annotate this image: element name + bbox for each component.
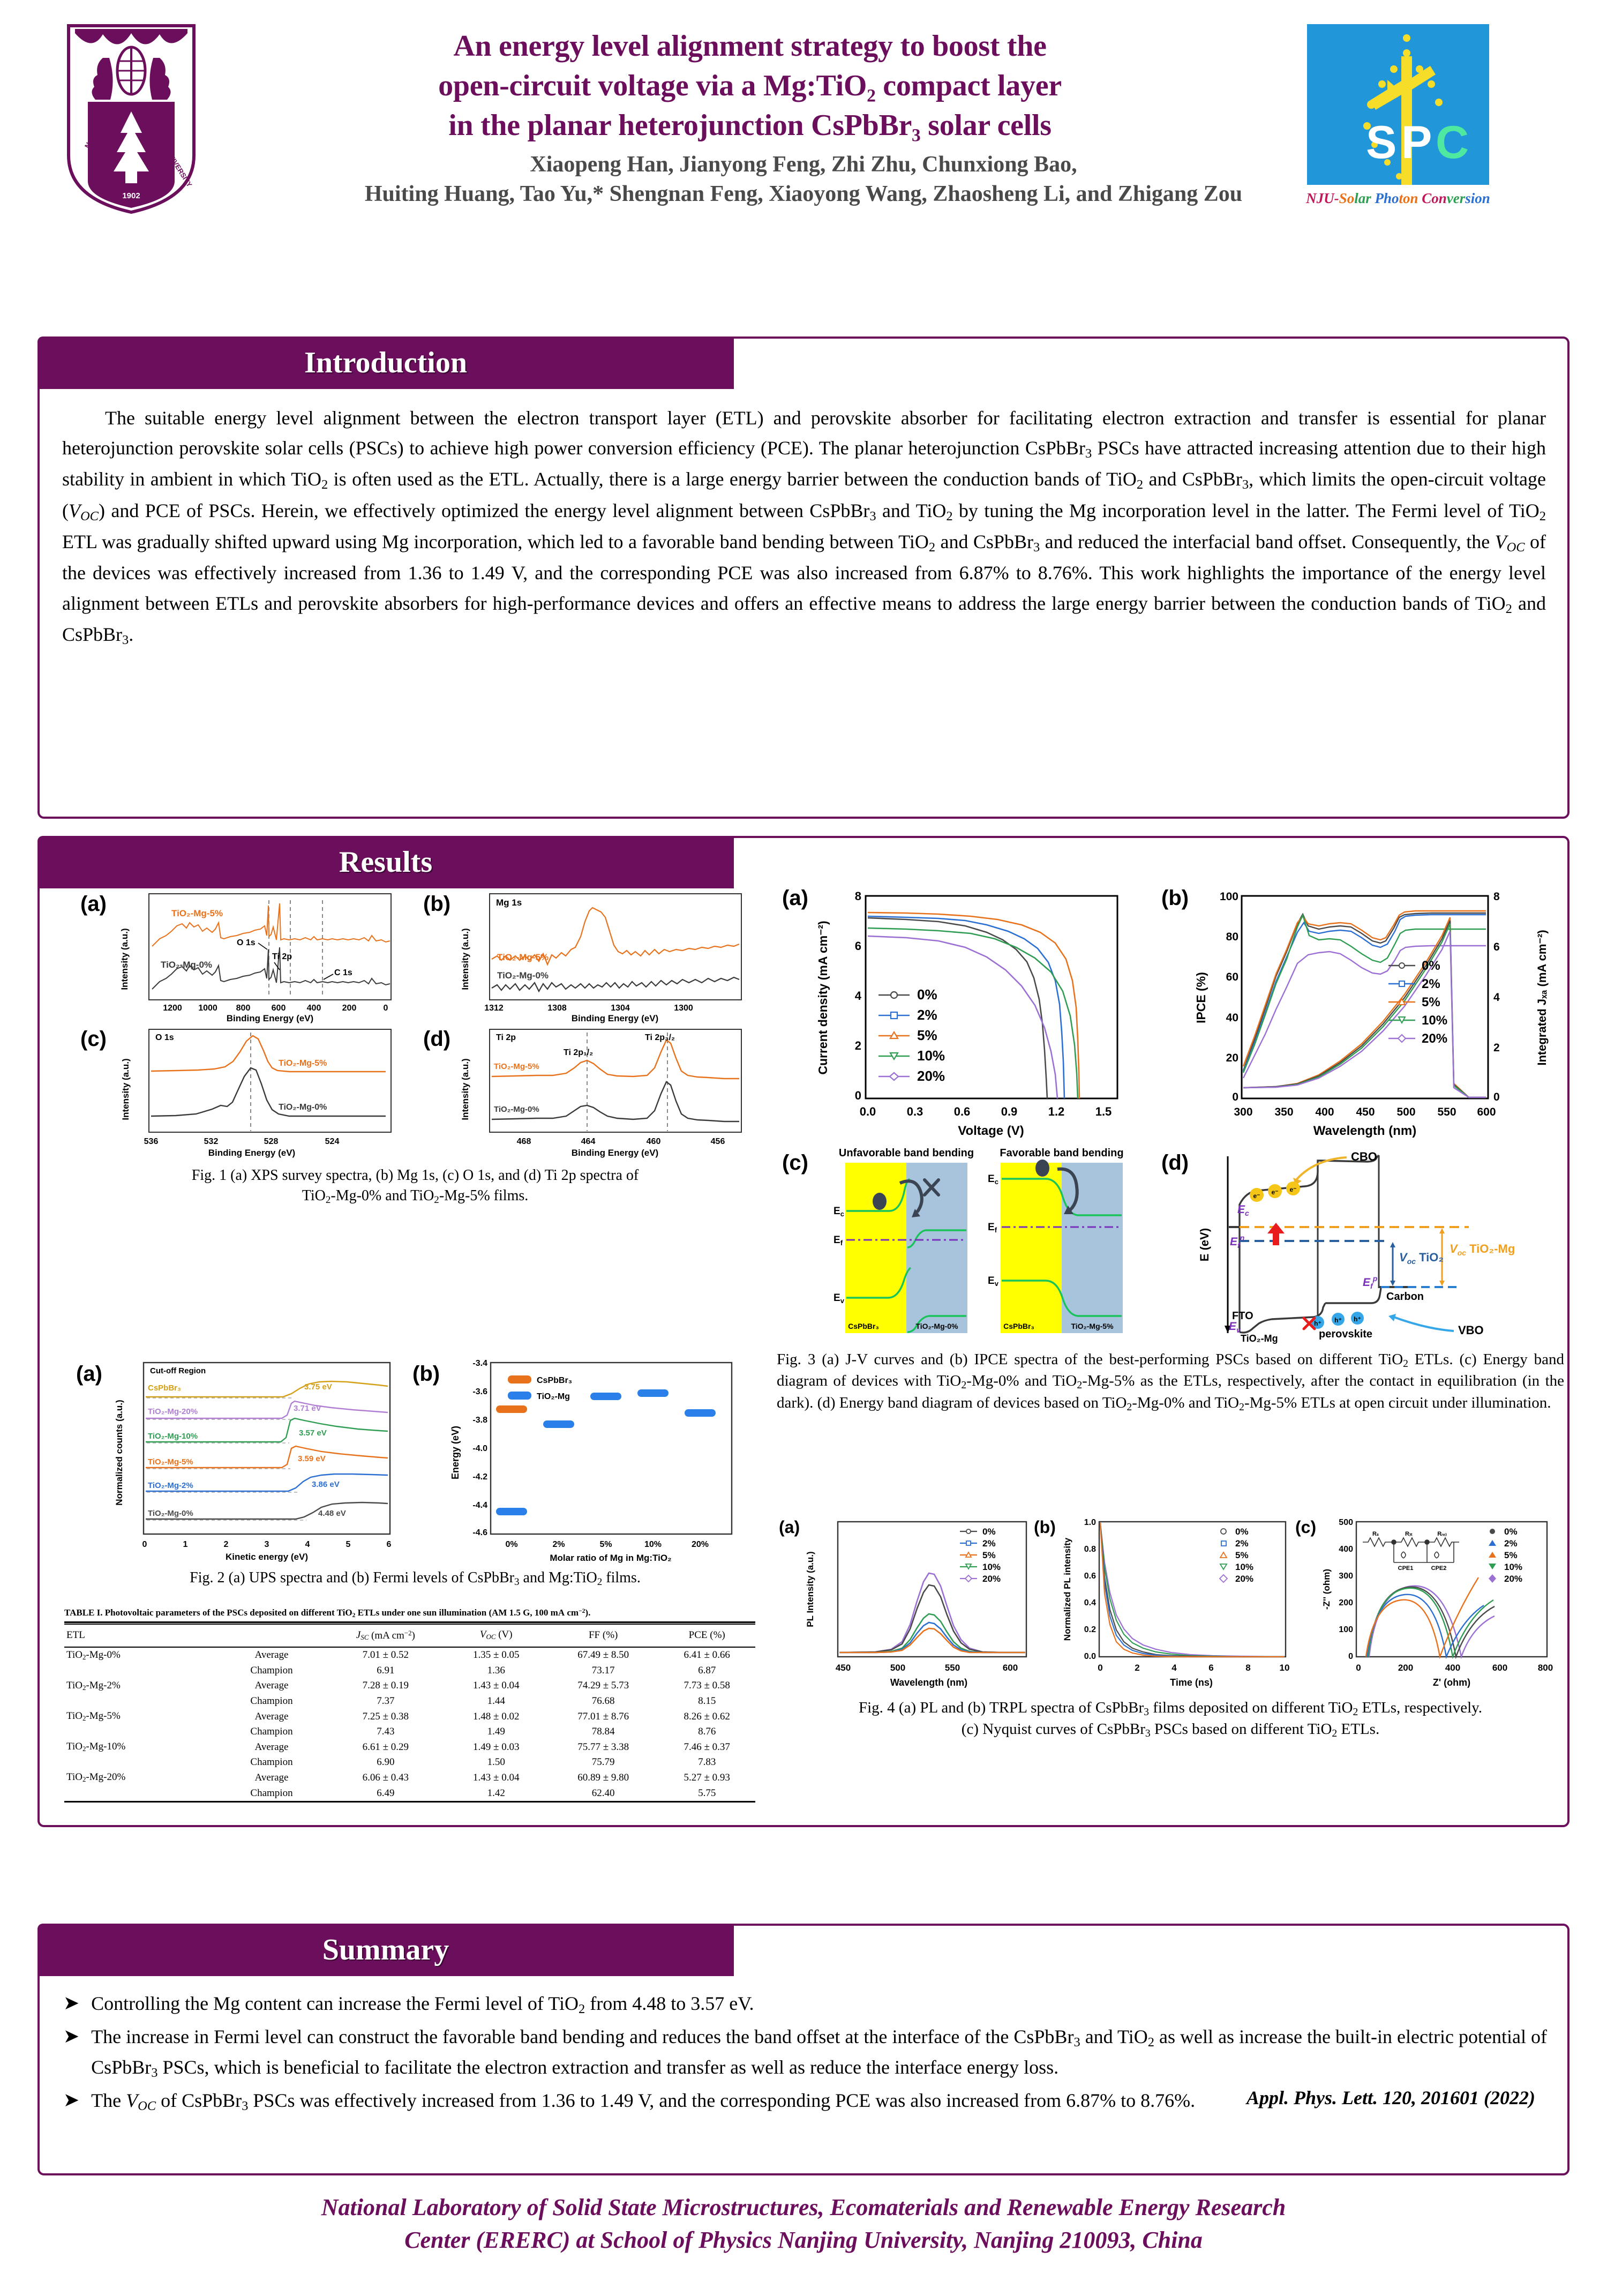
title-line-1: An energy level alignment strategy to bo…: [204, 27, 1296, 66]
fig3b-ytick2: 6: [1493, 941, 1500, 953]
fig2b-point-20pct: [685, 1409, 716, 1417]
fig4c-ytick: 400: [1339, 1545, 1353, 1554]
fig3c-band-diagram: Unfavorable band bending Favorable band …: [810, 1146, 1153, 1344]
fig3c-level-ec-r: Ec: [988, 1173, 998, 1186]
fig3b-xtick: 600: [1477, 1106, 1496, 1118]
th-etl: ETL: [64, 1624, 216, 1647]
cell-pce: 6.41 ± 0.66: [658, 1647, 755, 1663]
fig1a-xtick: 1000: [198, 1004, 217, 1013]
fig3-panel-b-label: (b): [1161, 886, 1189, 910]
fig3b-ytick: 60: [1226, 971, 1238, 983]
cell-kind: Average: [216, 1647, 327, 1663]
fig2b-legend-cspbbr3: CsPbBr₃: [537, 1376, 572, 1385]
fig2b-ytick: -3.8: [472, 1416, 487, 1425]
table-header-row: ETL JSC (mA cm−2) VOC (V) FF (%) PCE (%): [64, 1624, 755, 1647]
fig3a-ytick: 4: [855, 989, 862, 1003]
cell-etl: [64, 1694, 216, 1709]
fig1a-ylabel: Intensity (a.u.): [119, 928, 130, 990]
cell-kind: Champion: [216, 1663, 327, 1678]
fig4b-ytick: 0.8: [1084, 1545, 1096, 1554]
fig4c-ylabel: -Z'' (ohm): [1321, 1569, 1332, 1610]
summary-panel: Summary ➤ Controlling the Mg content can…: [37, 1924, 1570, 2175]
fig1b-xtick: 1300: [674, 1004, 693, 1013]
fig3b-xtick: 400: [1315, 1106, 1334, 1118]
fig3b-ipce-chart: IPCE (%) Integrated Jₓₐ (mA cm⁻²) 10080 …: [1190, 884, 1560, 1141]
table-row: TiO2-Mg-0%Average7.01 ± 0.521.35 ± 0.056…: [64, 1647, 755, 1663]
fig4c-legend-item: 0%: [1504, 1527, 1518, 1537]
cell-kind: Average: [216, 1709, 327, 1724]
fig2b-point-2pct: [543, 1420, 574, 1428]
fig4b-xtick: 4: [1172, 1663, 1177, 1673]
cell-ff: 60.89 ± 9.80: [548, 1770, 658, 1785]
fig1c-series-label-0pct: TiO₂-Mg-0%: [279, 1103, 327, 1112]
cell-voc: 1.43 ± 0.04: [444, 1770, 548, 1785]
fig1d-series-label-0pct: TiO₂-Mg-0%: [494, 1105, 539, 1114]
cell-ff: 62.40: [548, 1786, 658, 1802]
fig1a-xtick: 200: [342, 1004, 357, 1013]
fig3b-xlabel: Wavelength (nm): [1313, 1124, 1416, 1138]
fig2a-trace-value: 3.75 eV: [304, 1382, 332, 1392]
cell-etl: [64, 1755, 216, 1770]
fig3d-label-ec: Ec: [1237, 1203, 1249, 1217]
fig1c-o1s-chart: O 1s Intensity (a.u.) TiO₂-Mg-5% TiO₂-Mg…: [118, 1025, 407, 1159]
summary-header: Summary: [37, 1924, 734, 1976]
fig1a-annotation-o1s: O 1s: [237, 938, 256, 947]
fig1d-annotation-ti2p32: Ti 2p₃/₂: [645, 1033, 675, 1042]
fig3b-xtick: 550: [1437, 1106, 1456, 1118]
fig3b-xtick: 350: [1274, 1106, 1293, 1118]
fig2a-ylabel: Normalized counts (a.u.): [114, 1400, 124, 1505]
fig2a-xtick: 3: [265, 1540, 269, 1549]
results-heading: Results: [339, 845, 432, 879]
poster-footer: National Laboratory of Solid State Micro…: [0, 2192, 1607, 2256]
cell-voc: 1.49 ± 0.03: [444, 1739, 548, 1755]
fig3a-xtick: 0.0: [860, 1105, 876, 1118]
cell-jsc: 6.49: [327, 1786, 444, 1802]
fig2a-trace-label: TiO₂-Mg-10%: [148, 1432, 198, 1441]
cell-jsc: 7.43: [327, 1724, 444, 1739]
fig3c-left-mat1: CsPbBr₃: [848, 1322, 879, 1330]
cell-pce: 5.27 ± 0.93: [658, 1770, 755, 1785]
fig3b-ytick2: 8: [1493, 891, 1500, 903]
fig4a-legend-item: 5%: [982, 1550, 996, 1560]
author-line-1: Xiaopeng Han, Jianyong Feng, Zhi Zhu, Ch…: [86, 150, 1521, 180]
poster-title: An energy level alignment strategy to bo…: [204, 27, 1296, 146]
fig4a-xlabel: Wavelength (nm): [890, 1677, 967, 1688]
fig1a-series-label-5pct: TiO₂-Mg-5%: [171, 908, 223, 918]
fig4c-ytick: 100: [1339, 1625, 1353, 1634]
fig1c-xtick: 528: [264, 1137, 279, 1146]
fig4c-inset-label: R₎ₜ: [1405, 1531, 1413, 1537]
cell-ff: 75.79: [548, 1755, 658, 1770]
fig3c-level-ev-r: Ev: [988, 1275, 999, 1288]
cell-ff: 74.29 ± 5.73: [548, 1678, 658, 1694]
cell-jsc: 6.91: [327, 1663, 444, 1678]
fig3d-label-efn: Efn: [1230, 1233, 1244, 1250]
fig3a-legend-item: 20%: [917, 1068, 945, 1084]
fig3d-label-tio2mg: TiO₂-Mg: [1241, 1333, 1278, 1344]
fig3a-xtick: 0.3: [907, 1105, 923, 1118]
fig4b-trpl-chart: Normalized PL intensity 1.00.8 0.60.4 0.…: [1057, 1514, 1298, 1691]
summary-bullet-1: ➤ Controlling the Mg content can increas…: [63, 1989, 1547, 2019]
fig2b-point-cspbbr3: [496, 1405, 527, 1413]
fig3d-label-efp: Efp: [1363, 1274, 1378, 1290]
fig4b-legend-item: 0%: [1235, 1527, 1249, 1537]
fig3d-band-diagram: E (eV) CBO e⁻ e⁻ e⁻ h⁺: [1190, 1146, 1560, 1344]
fig4b-xlabel: Time (ns): [1170, 1677, 1213, 1688]
fig2b-ytick: -4.4: [472, 1501, 487, 1510]
fig3d-label-fto: FTO: [1232, 1310, 1253, 1322]
fig3a-ylabel: Current density (mA cm⁻²): [816, 921, 830, 1074]
cell-pce: 6.87: [658, 1663, 755, 1678]
cell-kind: Champion: [216, 1786, 327, 1802]
cell-kind: Champion: [216, 1694, 327, 1709]
fig3a-xtick: 0.9: [1001, 1105, 1018, 1118]
cell-jsc: 6.06 ± 0.43: [327, 1770, 444, 1785]
th-kind: [216, 1624, 327, 1647]
fig1b-xtick: 1312: [484, 1004, 504, 1013]
fig4c-inset-label: Rₛ: [1372, 1531, 1379, 1537]
cell-ff: 75.77 ± 3.38: [548, 1739, 658, 1755]
cell-pce: 8.76: [658, 1724, 755, 1739]
fig1-panel-c-label: (c): [80, 1027, 107, 1051]
fig4c-inset-label: CPE2: [1431, 1565, 1447, 1572]
fig4a-xtick: 500: [890, 1663, 905, 1673]
svg-text:e⁻: e⁻: [1253, 1192, 1260, 1200]
fig1b-xlabel: Binding Energy (eV): [572, 1013, 658, 1023]
fig4b-xtick: 0: [1098, 1663, 1102, 1673]
fig4a-legend-item: 10%: [982, 1562, 1001, 1572]
fig3c-level-ef: Ef: [833, 1235, 843, 1247]
fig2b-ytick: -3.6: [472, 1387, 487, 1396]
fig1c-title: O 1s: [155, 1033, 174, 1042]
fig4c-xlabel: Z' (ohm): [1433, 1677, 1470, 1688]
fig3c-right-title: Favorable band bending: [1000, 1147, 1123, 1159]
fig2a-trace-label: TiO₂-Mg-5%: [148, 1457, 193, 1467]
fig4b-xtick: 10: [1280, 1663, 1290, 1673]
fig4b-xtick: 6: [1208, 1663, 1213, 1673]
fig4c-inset-label: Rᵣₑ₎: [1437, 1531, 1447, 1537]
fig4a-legend-item: 0%: [982, 1527, 996, 1537]
fig3b-xtick: 500: [1396, 1106, 1415, 1118]
title-line-3: in the planar heterojunction CsPbBr₃ sol…: [204, 106, 1296, 146]
cell-etl: [64, 1724, 216, 1739]
summary-bullet-text-2: The increase in Fermi level can construc…: [91, 2022, 1547, 2083]
fig3b-ytick: 20: [1226, 1052, 1238, 1064]
cell-kind: Average: [216, 1770, 327, 1785]
fig1b-xtick: 1308: [547, 1004, 567, 1013]
fig3b-xtick: 300: [1234, 1106, 1252, 1118]
fig3b-ylabel: IPCE (%): [1194, 972, 1208, 1023]
table-row: Champion7.431.4978.848.76: [64, 1724, 755, 1739]
fig4b-ytick: 0.2: [1084, 1625, 1096, 1634]
fig4-panel-a-label: (a): [779, 1517, 800, 1537]
fig4c-legend-item: 5%: [1504, 1550, 1518, 1560]
fig2b-xtick: 5%: [599, 1540, 612, 1549]
fig4c-inset-label: CPE1: [1398, 1565, 1414, 1572]
fig4a-ylabel: PL Intensity (a.u.): [805, 1551, 815, 1627]
fig4b-ytick: 0.6: [1084, 1572, 1096, 1581]
fig2a-xtick: 1: [183, 1540, 188, 1549]
results-header: Results: [37, 836, 734, 888]
fig3-panel-d-label: (d): [1161, 1151, 1189, 1175]
cell-voc: 1.49: [444, 1724, 548, 1739]
fig1d-series-label-5pct: TiO₂-Mg-5%: [494, 1062, 539, 1071]
summary-bullet-text-1: Controlling the Mg content can increase …: [91, 1989, 1547, 2019]
cell-jsc: 7.37: [327, 1694, 444, 1709]
fig4b-legend-item: 2%: [1235, 1538, 1249, 1549]
fig1b-series-label-5pct: TiO₂-Mg-5%: [497, 952, 549, 962]
table-row: Champion7.371.4476.688.15: [64, 1694, 755, 1709]
fig2a-xtick: 5: [346, 1540, 351, 1549]
fig3d-label-perovskite: perovskite: [1319, 1328, 1372, 1340]
svg-text:e⁻: e⁻: [1271, 1188, 1278, 1196]
summary-heading: Summary: [322, 1933, 449, 1967]
fig1b-title: Mg 1s: [496, 898, 522, 908]
fig3b-ytick: 100: [1220, 891, 1238, 903]
fig1a-annotation-ti2p: Ti 2p: [272, 952, 292, 961]
fig3a-legend-item: 5%: [917, 1027, 937, 1043]
fig2b-ytick: -4.6: [472, 1528, 487, 1537]
spc-tagline: NJU-Solar Photon Conversion: [1286, 190, 1511, 207]
fig1-panel-a-label: (a): [80, 892, 107, 916]
fig1c-ylabel: Intensity (a.u.): [121, 1058, 131, 1120]
fig1-panel-d-label: (d): [423, 1027, 450, 1051]
fig2a-trace-value: 3.59 eV: [298, 1454, 326, 1463]
fig3a-ytick: 8: [855, 889, 861, 903]
fig4-panel-b-label: (b): [1034, 1517, 1056, 1537]
cell-pce: 7.73 ± 0.58: [658, 1678, 755, 1694]
fig3b-ytick: 40: [1226, 1012, 1238, 1024]
fig2b-point-5pct: [590, 1393, 621, 1400]
spc-logo: S P C: [1307, 24, 1489, 185]
cell-ff: 78.84: [548, 1724, 658, 1739]
fig3-panel-a-label: (a): [782, 886, 808, 910]
cell-ff: 73.17: [548, 1663, 658, 1678]
fig1d-xtick: 460: [647, 1137, 661, 1146]
th-jsc: JSC (mA cm−2): [327, 1624, 444, 1647]
cell-voc: 1.35 ± 0.05: [444, 1647, 548, 1663]
table-row: Champion6.491.4262.405.75: [64, 1786, 755, 1802]
fig4b-xtick: 8: [1245, 1663, 1250, 1673]
cell-pce: 8.26 ± 0.62: [658, 1709, 755, 1724]
fig3a-xlabel: Voltage (V): [958, 1124, 1024, 1138]
fig1d-xtick: 464: [581, 1137, 596, 1146]
cell-pce: 7.83: [658, 1755, 755, 1770]
fig2a-trace-value: 3.57 eV: [299, 1429, 327, 1438]
figure-3: (a) Current density (mA cm⁻²) 86 42 0 0%…: [777, 884, 1564, 1506]
cell-pce: 5.75: [658, 1786, 755, 1802]
fig1d-xtick: 456: [711, 1137, 725, 1146]
fig4a-xtick: 600: [1003, 1663, 1018, 1673]
fig1d-xtick: 468: [517, 1137, 531, 1146]
cell-ff: 77.01 ± 8.76: [548, 1709, 658, 1724]
fig1-caption: Fig. 1 (a) XPS survey spectra, (b) Mg 1s…: [70, 1165, 761, 1207]
cell-pce: 8.15: [658, 1694, 755, 1709]
fig3d-label-voc-tio2mg: Voc TiO₂-Mg: [1450, 1242, 1515, 1257]
fig2b-xtick: 0%: [505, 1540, 517, 1549]
cell-jsc: 6.61 ± 0.29: [327, 1739, 444, 1755]
cell-etl: [64, 1786, 216, 1802]
fig4c-xtick: 0: [1356, 1663, 1361, 1673]
fig3b-ytick2: 2: [1493, 1042, 1500, 1054]
fig1a-series-label-0pct: TiO₂-Mg-0%: [161, 960, 212, 970]
figure-1: (a) Intensity (a.u.) TiO₂-Mg-5% TiO₂-Mg-…: [70, 887, 761, 1353]
svg-text:h⁺: h⁺: [1314, 1320, 1321, 1327]
fig2-caption: Fig. 2 (a) UPS spectra and (b) Fermi lev…: [70, 1568, 761, 1589]
th-voc: VOC (V): [444, 1624, 548, 1647]
fig2a-trace-value: 4.48 eV: [318, 1509, 346, 1518]
fig4c-xtick: 800: [1538, 1663, 1553, 1673]
fig2-panel-a-label: (a): [76, 1362, 102, 1386]
fig3b-ytick2: 4: [1493, 991, 1500, 1004]
fig4c-legend-item: 20%: [1504, 1574, 1522, 1584]
fig4c-ytick: 300: [1339, 1572, 1353, 1581]
cell-kind: Champion: [216, 1755, 327, 1770]
fig2a-xtick: 6: [387, 1540, 392, 1549]
introduction-heading: Introduction: [304, 346, 467, 380]
fig4c-xtick: 400: [1445, 1663, 1460, 1673]
fig4b-legend-item: 5%: [1235, 1550, 1249, 1560]
fig3a-xtick: 1.2: [1048, 1105, 1065, 1118]
fig3a-ytick: 0: [855, 1089, 861, 1102]
spc-logo-text-c: C: [1436, 117, 1469, 168]
table-row: TiO2-Mg-10%Average6.61 ± 0.291.49 ± 0.03…: [64, 1739, 755, 1755]
fig2b-point-0pct: [496, 1508, 527, 1515]
fig4b-xtick: 2: [1135, 1663, 1139, 1673]
fig3c-left-mat2: TiO₂-Mg-0%: [915, 1322, 958, 1330]
fig4c-ytick: 0: [1348, 1652, 1353, 1661]
fig3c-level-ev: Ev: [833, 1292, 845, 1305]
fig1d-xlabel: Binding Energy (eV): [572, 1148, 658, 1158]
fig3d-ylabel: E (eV): [1198, 1228, 1211, 1261]
fig4b-ylabel: Normalized PL intensity: [1062, 1537, 1072, 1641]
footer-line-2: Center (ERERC) at School of Physics Nanj…: [0, 2224, 1607, 2257]
fig3b-ylabel2: Integrated Jₓₐ (mA cm⁻²): [1535, 930, 1549, 1065]
fig2a-trace-label: TiO₂-Mg-2%: [148, 1481, 193, 1490]
fig2b-fermi-chart: Energy (eV) -3.4-3.6 -3.8-4.0 -4.2-4.4 -…: [445, 1358, 755, 1565]
fig2a-xlabel: Kinetic energy (eV): [226, 1552, 308, 1562]
fig3d-electrons: e⁻ e⁻ e⁻: [1250, 1181, 1300, 1202]
fig3d-label-cbo: CBO: [1351, 1150, 1377, 1163]
table-row: TiO2-Mg-20%Average6.06 ± 0.431.43 ± 0.04…: [64, 1770, 755, 1785]
introduction-body: The suitable energy level alignment betw…: [62, 403, 1546, 650]
cell-etl: [64, 1663, 216, 1678]
fig2-panel-b-label: (b): [412, 1362, 440, 1386]
fig1a-xtick: 800: [236, 1004, 251, 1013]
table-row: Champion6.901.5075.797.83: [64, 1755, 755, 1770]
fig3a-legend-item: 2%: [917, 1007, 937, 1023]
fig3b-legend-item: 5%: [1422, 995, 1440, 1009]
cell-etl: TiO2-Mg-2%: [64, 1678, 216, 1694]
fig1d-ti2p-chart: Ti 2p Intensity (a.u.) TiO₂-Mg-5% TiO₂-M…: [456, 1025, 756, 1159]
fig1d-annotation-ti2p12: Ti 2p₁/₂: [564, 1048, 593, 1057]
fig2a-xtick: 0: [142, 1540, 147, 1549]
fig2b-xtick: 10%: [644, 1540, 662, 1549]
fig4b-legend-item: 20%: [1235, 1574, 1253, 1584]
fig3a-jv-chart: Current density (mA cm⁻²) 86 42 0 0% 2% …: [810, 884, 1153, 1141]
cell-jsc: 7.28 ± 0.19: [327, 1678, 444, 1694]
introduction-panel: Introduction The suitable energy level a…: [37, 336, 1570, 819]
fig3a-ytick: 2: [855, 1039, 861, 1052]
fig2b-xtick: 20%: [692, 1540, 709, 1549]
fig1d-title: Ti 2p: [496, 1033, 516, 1042]
fig4-caption: Fig. 4 (a) PL and (b) TRPL spectra of Cs…: [777, 1697, 1564, 1741]
fig1b-xtick: 1304: [611, 1004, 630, 1013]
fig1a-xtick: 600: [272, 1004, 286, 1013]
fig4c-ytick: 500: [1339, 1518, 1353, 1527]
fig2b-xtick: 2%: [552, 1540, 565, 1549]
fig1b-ylabel: Intensity (a.u.): [460, 928, 470, 990]
fig3b-ytick2: 0: [1493, 1091, 1500, 1103]
fig4c-legend-item: 10%: [1504, 1562, 1522, 1572]
cell-voc: 1.43 ± 0.04: [444, 1678, 548, 1694]
cell-ff: 76.68: [548, 1694, 658, 1709]
fig3c-right-mat1: CsPbBr₃: [1003, 1322, 1034, 1330]
fig3b-legend-item: 2%: [1422, 977, 1440, 991]
title-line-2: open-circuit voltage via a Mg:TiO₂ compa…: [204, 66, 1296, 106]
fig3c-right-mat2: TiO₂-Mg-5%: [1071, 1322, 1114, 1330]
figure-4: (a) PL Intensity (a.u.) 0% 2% 5% 10% 20%…: [777, 1511, 1564, 1811]
fig2a-ups-chart: Cut-off Region Normalized counts (a.u.) …: [111, 1358, 422, 1565]
fig3b-legend-item: 0%: [1422, 959, 1440, 973]
fig3b-legend-item: 20%: [1422, 1031, 1447, 1046]
fig3a-xtick: 1.5: [1095, 1105, 1112, 1118]
table-caption: TABLE I. Photovoltaic parameters of the …: [64, 1607, 755, 1619]
fig3b-ytick: 80: [1226, 931, 1238, 943]
summary-bullet-2: ➤ The increase in Fermi level can constr…: [63, 2022, 1547, 2083]
spc-logo-text-p: P: [1401, 117, 1432, 168]
cell-pce: 7.46 ± 0.37: [658, 1739, 755, 1755]
fig4c-nyquist-chart: -Z'' (ohm) 500400 300200 1000 Rₛ R₎ₜ Rᵣₑ…: [1318, 1514, 1564, 1691]
fig1a-annotation-c1s: C 1s: [334, 968, 352, 977]
table-caption-label: TABLE I.: [64, 1607, 103, 1618]
table-row: TiO2-Mg-2%Average7.28 ± 0.191.43 ± 0.047…: [64, 1678, 755, 1694]
spc-logo-text: S: [1366, 117, 1396, 168]
fig2b-ytick: -3.4: [472, 1359, 487, 1368]
fig4b-ytick: 0.0: [1084, 1652, 1096, 1661]
fig2a-trace-label: TiO₂-Mg-0%: [148, 1509, 193, 1518]
cell-kind: Champion: [216, 1724, 327, 1739]
cell-voc: 1.42: [444, 1786, 548, 1802]
fig1d-ylabel: Intensity (a.u.): [460, 1058, 470, 1120]
fig3b-legend-item: 10%: [1422, 1013, 1447, 1028]
fig3c-level-ef-r: Ef: [988, 1222, 997, 1234]
poster-header: 1902 NANJING UNIVERSITY An energy level …: [0, 0, 1607, 321]
cell-voc: 1.36: [444, 1663, 548, 1678]
fig1c-xlabel: Binding Energy (eV): [208, 1148, 295, 1158]
introduction-text: The suitable energy level alignment betw…: [62, 403, 1546, 650]
fig4c-xtick: 200: [1398, 1663, 1413, 1673]
cell-voc: 1.50: [444, 1755, 548, 1770]
fig4-panel-c-label: (c): [1295, 1517, 1316, 1537]
fig4b-ytick: 0.4: [1084, 1598, 1096, 1607]
fig3d-label-vbo: VBO: [1458, 1323, 1484, 1337]
fig1b-mg1s-chart: Mg 1s Intensity (a.u.) TiO₂-Mg-5% TiO₂-M…: [456, 889, 756, 1023]
introduction-header: Introduction: [37, 336, 734, 389]
fig3a-legend-item: 10%: [917, 1048, 945, 1064]
fig1a-xtick: 1200: [163, 1004, 182, 1013]
cell-kind: Average: [216, 1739, 327, 1755]
cell-etl: TiO2-Mg-10%: [64, 1739, 216, 1755]
table-row: Champion6.911.3673.176.87: [64, 1663, 755, 1678]
fig2a-xtick: 4: [305, 1540, 310, 1549]
fig1c-xtick: 536: [144, 1137, 159, 1146]
fig2b-ylabel: Energy (eV): [450, 1426, 461, 1479]
bullet-marker-icon: ➤: [63, 1989, 79, 2019]
cell-jsc: 7.25 ± 0.38: [327, 1709, 444, 1724]
reference-citation: Appl. Phys. Lett. 120, 201601 (2022): [1246, 2086, 1535, 2109]
